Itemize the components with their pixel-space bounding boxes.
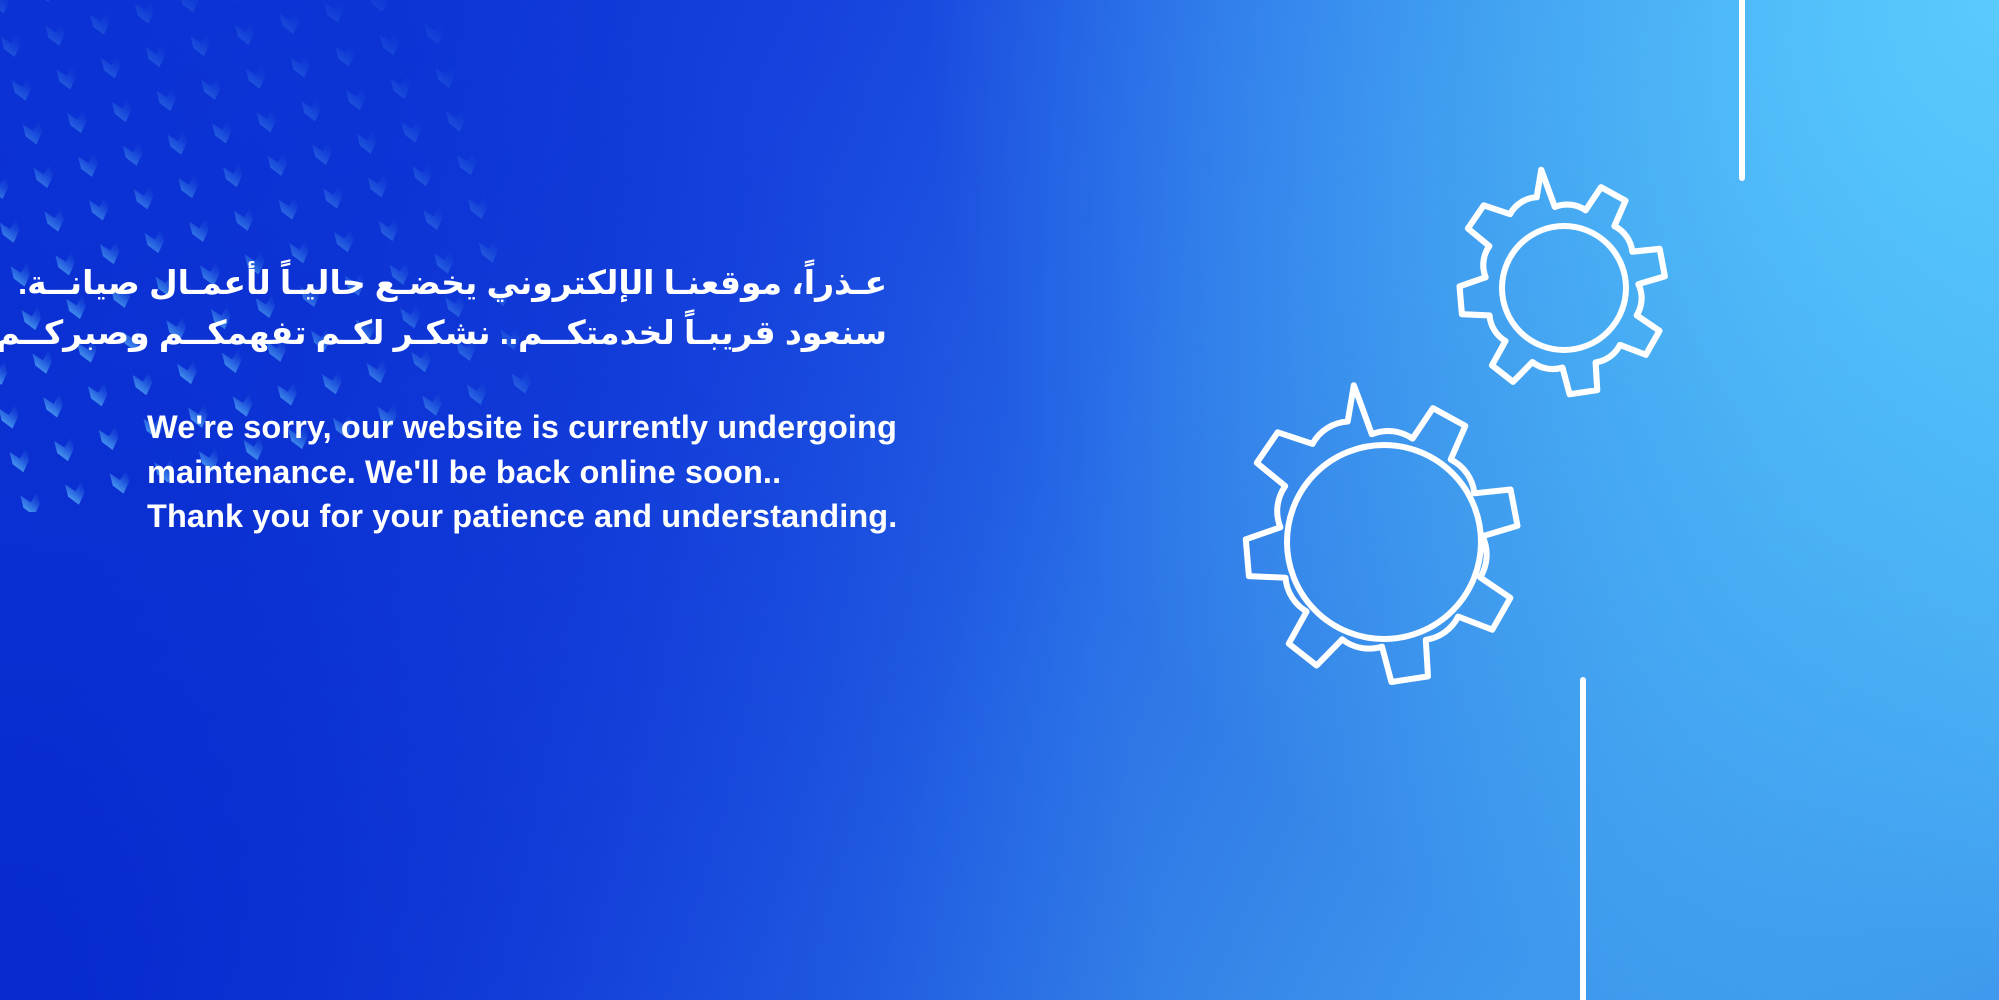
gear-small-hub bbox=[1502, 226, 1626, 350]
arabic-message: عـذراً، موقعنـا الإلكتروني يخضـع حاليـاً… bbox=[147, 258, 887, 358]
maintenance-page: عـذراً، موقعنـا الإلكتروني يخضـع حاليـاً… bbox=[0, 0, 1999, 1000]
english-message: We're sorry, our website is currently un… bbox=[147, 405, 1077, 538]
english-line-2: maintenance. We'll be back online soon.. bbox=[147, 450, 1077, 494]
gear-illustration bbox=[1179, 0, 1999, 1000]
english-line-1: We're sorry, our website is currently un… bbox=[147, 405, 1077, 449]
gear-large bbox=[1246, 385, 1518, 682]
english-line-3: Thank you for your patience and understa… bbox=[147, 494, 1077, 538]
arabic-line-1: عـذراً، موقعنـا الإلكتروني يخضـع حاليـاً… bbox=[147, 258, 887, 308]
arabic-line-2: سنعود قريبـاً لخدمتكــم.. نشكـر لكـم تفه… bbox=[147, 308, 887, 358]
gear-small bbox=[1460, 170, 1665, 395]
gear-large-hub bbox=[1287, 445, 1481, 639]
message-block: عـذراً، موقعنـا الإلكتروني يخضـع حاليـاً… bbox=[147, 258, 1077, 538]
